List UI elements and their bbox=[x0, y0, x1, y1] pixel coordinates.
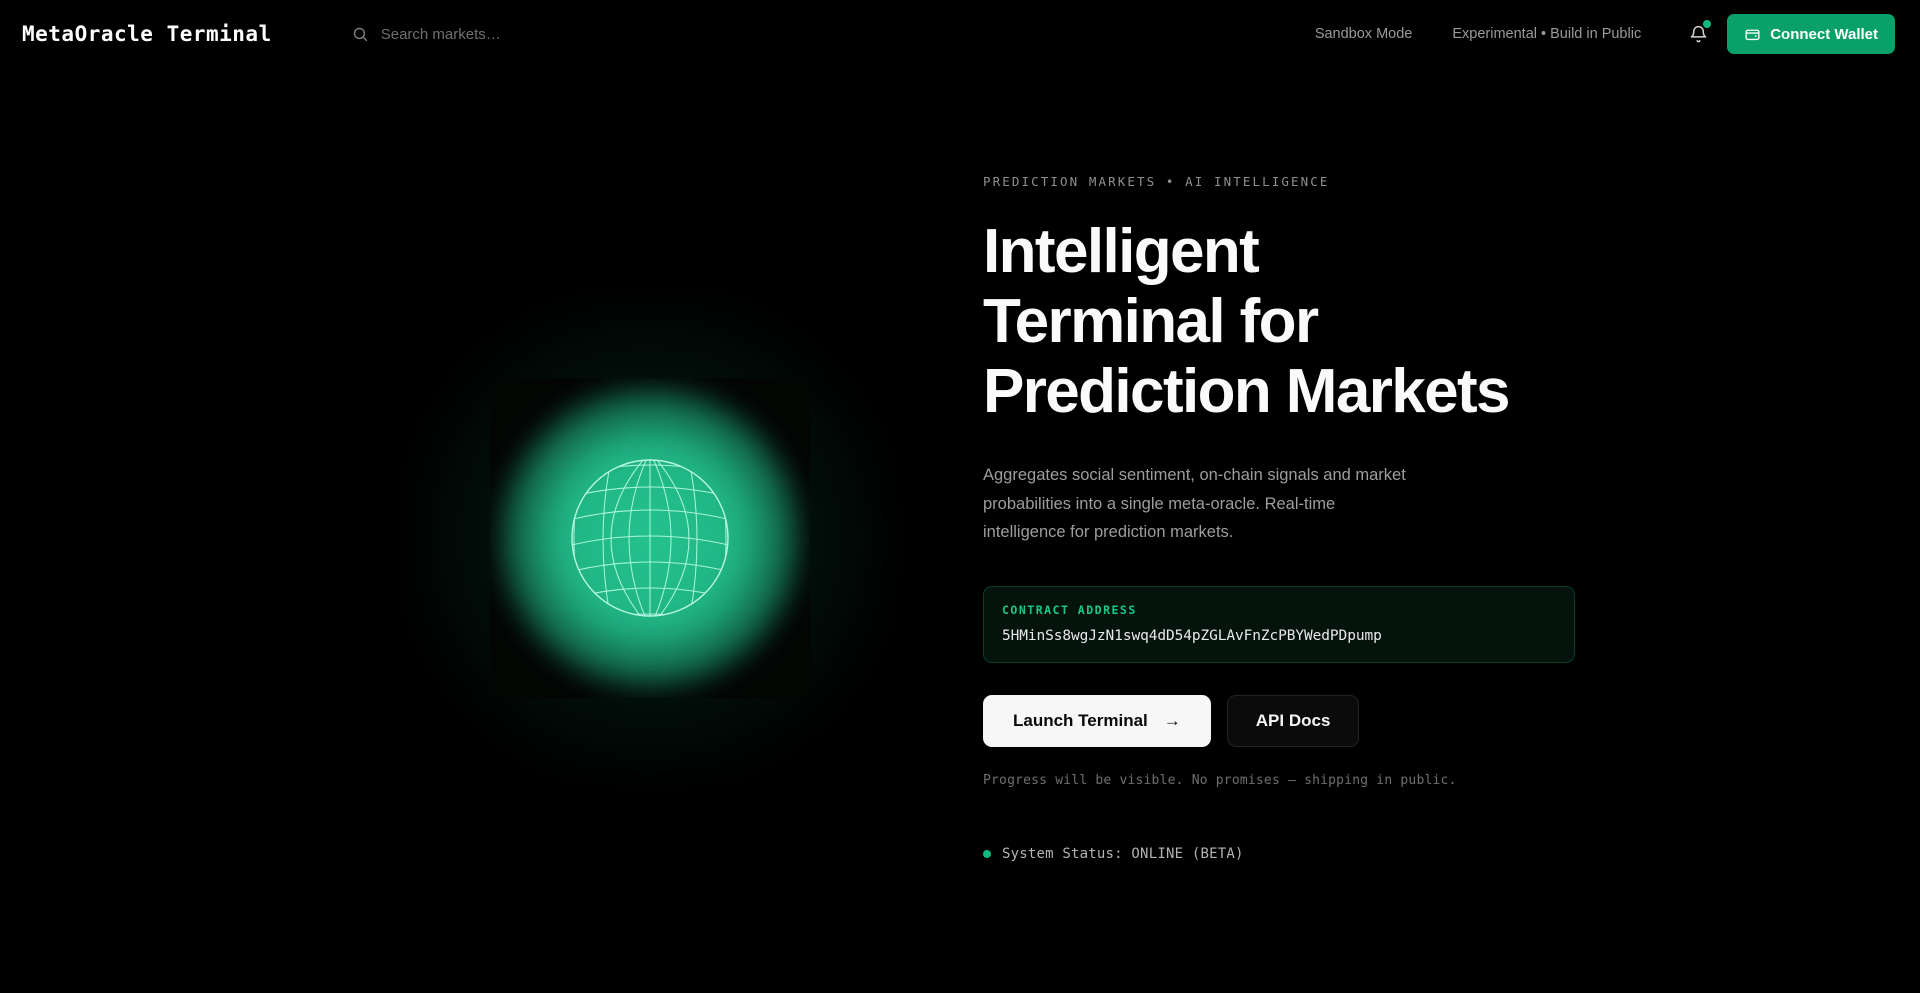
headline-line-3: Prediction Markets bbox=[983, 357, 1583, 427]
headline-line-1: Intelligent bbox=[983, 217, 1583, 287]
contract-address-card[interactable]: CONTRACT ADDRESS 5HMinSs8wgJzN1swq4dD54p… bbox=[983, 586, 1575, 663]
hero-note: Progress will be visible. No promises — … bbox=[983, 773, 1603, 788]
hero-content: PREDICTION MARKETS • AI INTELLIGENCE Int… bbox=[983, 174, 1603, 862]
nav-sandbox-mode[interactable]: Sandbox Mode bbox=[1295, 0, 1433, 68]
hero-actions: Launch Terminal → API Docs bbox=[983, 695, 1603, 747]
connect-wallet-label: Connect Wallet bbox=[1770, 26, 1878, 43]
nav-experimental-build-in-public[interactable]: Experimental • Build in Public bbox=[1432, 0, 1661, 68]
header-actions: Sandbox Mode Experimental • Build in Pub… bbox=[1295, 0, 1920, 68]
launch-terminal-button[interactable]: Launch Terminal → bbox=[983, 695, 1211, 747]
contract-address-value[interactable]: 5HMinSs8wgJzN1swq4dD54pZGLAvFnZcPBYWedPD… bbox=[1002, 628, 1556, 644]
notification-badge-dot bbox=[1703, 20, 1711, 28]
top-header: MetaOracle Terminal Sandbox Mode Experim… bbox=[0, 0, 1920, 68]
api-docs-button[interactable]: API Docs bbox=[1227, 695, 1360, 747]
globe-wireframe-icon bbox=[550, 438, 750, 638]
wallet-icon bbox=[1744, 26, 1761, 43]
status-indicator-dot bbox=[983, 850, 991, 858]
status-badge: System Status: ONLINE (BETA) bbox=[1002, 846, 1244, 862]
launch-terminal-label: Launch Terminal bbox=[1013, 711, 1148, 731]
api-docs-label: API Docs bbox=[1256, 711, 1331, 731]
search-input[interactable] bbox=[381, 26, 711, 43]
headline-line-2: Terminal for bbox=[983, 287, 1583, 357]
orb-panel bbox=[490, 378, 810, 698]
app-logo[interactable]: MetaOracle Terminal bbox=[22, 22, 272, 46]
page-title: Intelligent Terminal for Prediction Mark… bbox=[983, 217, 1583, 427]
connect-wallet-button[interactable]: Connect Wallet bbox=[1727, 14, 1895, 54]
hero-section: PREDICTION MARKETS • AI INTELLIGENCE Int… bbox=[0, 68, 1920, 993]
search-bar[interactable] bbox=[352, 14, 711, 54]
notifications-button[interactable] bbox=[1677, 13, 1719, 55]
system-status: System Status: ONLINE (BETA) bbox=[983, 846, 1603, 862]
contract-address-label: CONTRACT ADDRESS bbox=[1002, 603, 1556, 617]
hero-subhead: Aggregates social sentiment, on-chain si… bbox=[983, 461, 1415, 546]
hero-eyebrow: PREDICTION MARKETS • AI INTELLIGENCE bbox=[983, 174, 1603, 189]
search-icon bbox=[352, 26, 369, 43]
arrow-right-icon: → bbox=[1164, 711, 1181, 731]
wireframe-globe-visual bbox=[410, 298, 890, 778]
